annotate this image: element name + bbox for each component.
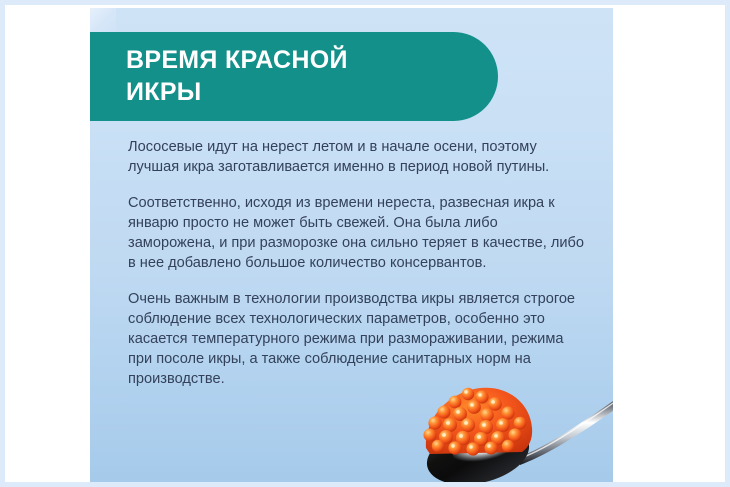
page-fold-corner	[90, 8, 116, 34]
paragraph: Лососевые идут на нерест летом и в начал…	[128, 138, 588, 178]
header-banner: ВРЕМЯ КРАСНОЙ ИКРЫ	[90, 32, 498, 121]
left-white-panel	[5, 5, 90, 482]
content-card: ВРЕМЯ КРАСНОЙ ИКРЫ Лососевые идут на нер…	[90, 8, 613, 487]
spoon-with-red-caviar-image	[390, 380, 613, 487]
right-white-panel	[613, 5, 725, 482]
paragraph: Соответственно, исходя из времени нерест…	[128, 194, 588, 274]
page-title: ВРЕМЯ КРАСНОЙ ИКРЫ	[126, 44, 456, 108]
paragraph: Очень важным в технологии производства и…	[128, 290, 588, 390]
body-text: Лососевые идут на нерест летом и в начал…	[128, 138, 588, 390]
slide-frame: ВРЕМЯ КРАСНОЙ ИКРЫ Лососевые идут на нер…	[0, 0, 730, 487]
